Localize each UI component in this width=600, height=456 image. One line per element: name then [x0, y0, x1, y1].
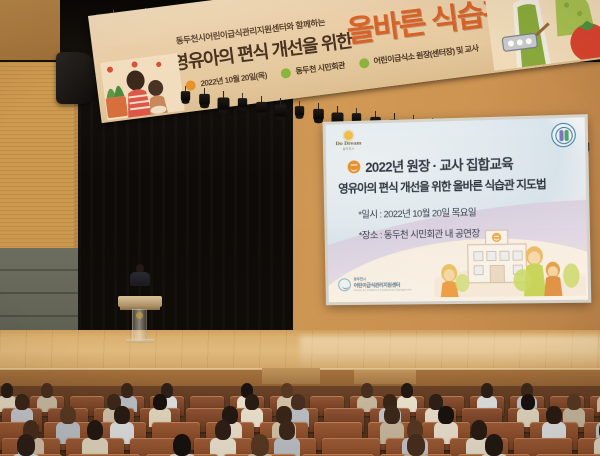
- audience-member-head: [153, 394, 167, 410]
- audience-member: [485, 434, 503, 456]
- audience-member-head: [291, 394, 305, 410]
- banner-meta-spacer: [350, 64, 354, 65]
- audience-member-head: [173, 434, 191, 456]
- audience-member-head: [401, 383, 413, 398]
- banner-meta-spacer: [272, 74, 276, 75]
- audience-member-head: [251, 434, 269, 456]
- audience-member-head: [546, 406, 561, 424]
- presentation-slide: Do Dream 동두천시 2022년 원장 · 교사 집합교육 영유아의 편식…: [325, 117, 588, 302]
- slide-title: 2022년 원장 · 교사 집합교육: [365, 153, 513, 177]
- audience-member: [215, 420, 232, 456]
- audience-member: [251, 434, 269, 456]
- audience-member-head: [121, 383, 133, 398]
- audience-seating: [0, 386, 600, 456]
- sun-icon: [344, 131, 353, 140]
- banner-meta-bullet-icon: [358, 57, 369, 68]
- audience-member-head: [87, 420, 104, 440]
- slide-info-line-1: *일시 : 2022년 10월 20일 목요일: [358, 205, 479, 221]
- center-logo: 동두천시 어린이급식관리지원센터 Center for Children's F…: [338, 277, 412, 293]
- audience-member-head: [407, 434, 425, 456]
- audience-member-head: [41, 383, 53, 398]
- banner-meta-bullet-icon: [280, 67, 291, 78]
- mother-feeding-child-icon: [100, 53, 185, 120]
- university-emblem-icon: [551, 123, 576, 148]
- stage-step-left: [262, 368, 320, 384]
- audience-member-head: [567, 394, 581, 410]
- banner-meta-bullet-icon: [185, 79, 196, 90]
- audience-member-head: [215, 420, 232, 440]
- center-logo-mark-icon: [338, 278, 351, 291]
- audience-member: [87, 420, 104, 456]
- audience-member-head: [17, 434, 35, 456]
- banner-meta-label: 2022년 10월 20일(목): [200, 70, 268, 89]
- audience-member-head: [438, 406, 453, 424]
- auditorium-photo: 식품의약품안전처Do Dream신한대학교전국 어린이급식관리지원센터 동두천시…: [0, 0, 600, 456]
- audience-member-head: [384, 406, 399, 424]
- audience-member-head: [245, 394, 259, 410]
- emblem-ring: [555, 126, 573, 144]
- audience-member-head: [279, 420, 296, 440]
- dodream-logo-sub: 동두천시: [336, 146, 362, 151]
- audience-member-head: [15, 394, 29, 410]
- audience-member: [17, 434, 35, 456]
- cook-with-tomato-icon: [481, 0, 600, 71]
- audience-member-head: [481, 383, 493, 398]
- audience-member-head: [485, 434, 503, 456]
- audience-member-head: [1, 383, 13, 398]
- audience-member-head: [361, 383, 373, 398]
- stage-floor-reflection: [300, 336, 600, 370]
- dodream-logo: Do Dream 동두천시: [335, 131, 361, 151]
- banner-meta-label: 어린이급식소 원장(센터장) 및 교사: [373, 43, 479, 67]
- slide-title-row: 2022년 원장 · 교사 집합교육: [347, 153, 513, 177]
- audience-member: [173, 434, 191, 456]
- center-logo-line3: Center for Children's Foodservice Manage…: [354, 288, 412, 292]
- stage-step-right: [354, 370, 416, 384]
- school-building-children-icon: [433, 221, 586, 298]
- lectern-seal-icon: [136, 312, 143, 319]
- audience-member-head: [114, 406, 129, 424]
- audience-member-head: [521, 394, 535, 410]
- ceiling-left-wall: [0, 0, 60, 60]
- audience-member-head: [60, 406, 75, 424]
- audience-member: [407, 434, 425, 456]
- smiley-face-icon: [348, 160, 361, 173]
- slide-subtitle: 영유아의 편식 개선을 위한 올바른 식습관 지도법: [338, 176, 546, 197]
- audience-member: [279, 420, 296, 456]
- projection-screen: Do Dream 동두천시 2022년 원장 · 교사 집합교육 영유아의 편식…: [322, 114, 591, 305]
- banner-meta-label: 동두천 시민회관: [295, 60, 346, 77]
- lectern: [118, 282, 162, 344]
- lectern-base: [126, 339, 154, 343]
- pa-speaker-box: [56, 52, 96, 104]
